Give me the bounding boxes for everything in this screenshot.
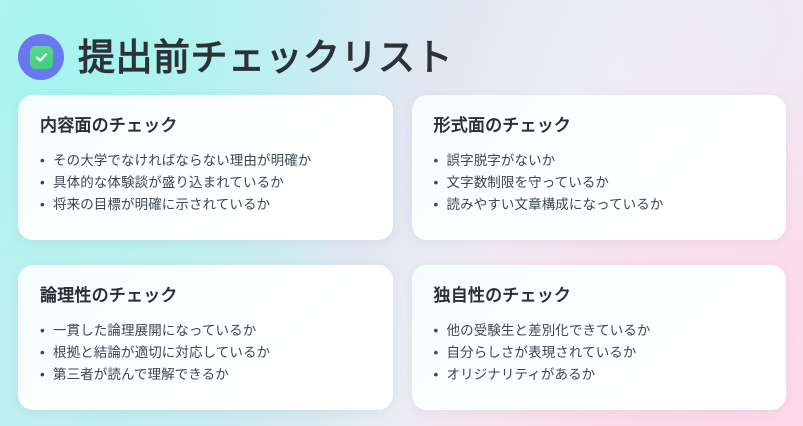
card-item-list: その大学でなければならない理由が明確か 具体的な体験談が盛り込まれているか 将来… xyxy=(40,150,371,216)
checklist-card-format: 形式面のチェック 誤字脱字がないか 文字数制限を守っているか 読みやすい文章構成… xyxy=(412,95,787,240)
checklist-card-grid: 内容面のチェック その大学でなければならない理由が明確か 具体的な体験談が盛り込… xyxy=(18,95,786,410)
card-title: 形式面のチェック xyxy=(434,115,765,136)
card-title: 内容面のチェック xyxy=(40,115,371,136)
list-item: 第三者が読んで理解できるか xyxy=(40,364,371,386)
page-header: 提出前チェックリスト xyxy=(18,14,453,101)
card-item-list: 他の受験生と差別化できているか 自分らしさが表現されているか オリジナリティがあ… xyxy=(434,320,765,386)
list-item: 具体的な体験談が盛り込まれているか xyxy=(40,172,371,194)
list-item: 一貫した論理展開になっているか xyxy=(40,320,371,342)
checkbox-glyph xyxy=(30,46,53,69)
list-item: 自分らしさが表現されているか xyxy=(434,342,765,364)
list-item: 将来の目標が明確に示されているか xyxy=(40,194,371,216)
list-item: オリジナリティがあるか xyxy=(434,364,765,386)
card-title: 論理性のチェック xyxy=(40,285,371,306)
list-item: 文字数制限を守っているか xyxy=(434,172,765,194)
card-item-list: 一貫した論理展開になっているか 根拠と結論が適切に対応しているか 第三者が読んで… xyxy=(40,320,371,386)
list-item: 他の受験生と差別化できているか xyxy=(434,320,765,342)
list-item: 誤字脱字がないか xyxy=(434,150,765,172)
checklist-card-logic: 論理性のチェック 一貫した論理展開になっているか 根拠と結論が適切に対応している… xyxy=(18,265,393,410)
list-item: その大学でなければならない理由が明確か xyxy=(40,150,371,172)
card-title: 独自性のチェック xyxy=(434,285,765,306)
page-title: 提出前チェックリスト xyxy=(78,39,453,76)
checklist-card-content: 内容面のチェック その大学でなければならない理由が明確か 具体的な体験談が盛り込… xyxy=(18,95,393,240)
card-item-list: 誤字脱字がないか 文字数制限を守っているか 読みやすい文章構成になっているか xyxy=(434,150,765,216)
list-item: 根拠と結論が適切に対応しているか xyxy=(40,342,371,364)
checklist-page: 提出前チェックリスト 内容面のチェック その大学でなければならない理由が明確か … xyxy=(0,0,803,426)
check-square-icon xyxy=(18,34,64,80)
list-item: 読みやすい文章構成になっているか xyxy=(434,194,765,216)
checklist-card-originality: 独自性のチェック 他の受験生と差別化できているか 自分らしさが表現されているか … xyxy=(412,265,787,410)
